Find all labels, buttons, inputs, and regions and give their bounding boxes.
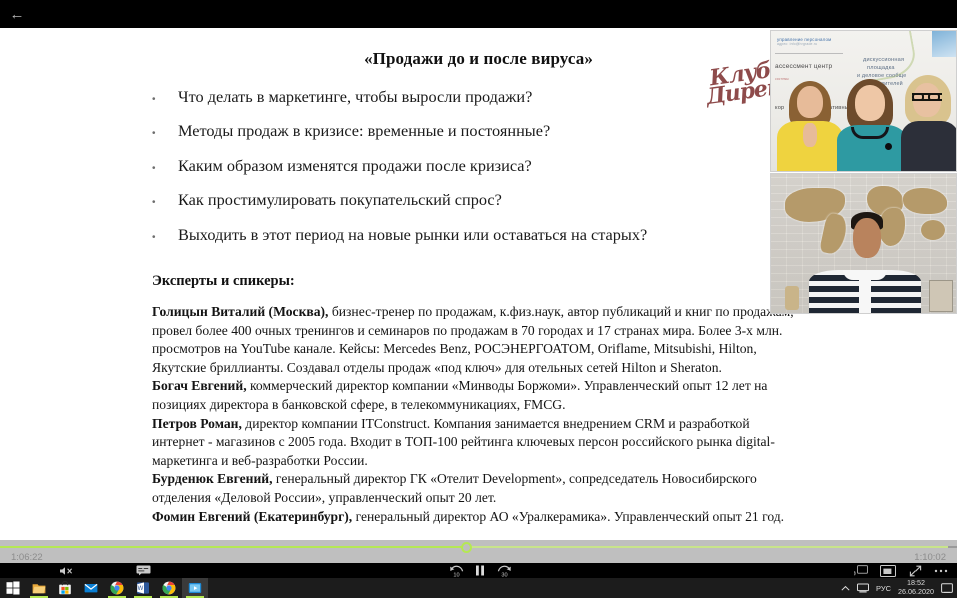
list-item: • Как простимулировать покупательский сп…: [152, 191, 752, 209]
file-explorer-button[interactable]: [26, 578, 52, 598]
microsoft-store-button[interactable]: [52, 578, 78, 598]
chrome-second-button[interactable]: [156, 578, 182, 598]
speaker-placket: [859, 276, 871, 314]
seek-buffer: [467, 546, 948, 548]
notification-icon[interactable]: [941, 583, 953, 594]
windows-logo-icon: [6, 581, 20, 595]
svg-text:W: W: [138, 586, 144, 592]
desk-object: [785, 286, 799, 310]
banner-text: ассессмент центр: [775, 63, 832, 70]
cast-icon[interactable]: [852, 563, 870, 578]
start-button[interactable]: [0, 578, 26, 598]
clock-time: 18:52: [907, 578, 925, 587]
chrome-button[interactable]: [104, 578, 130, 598]
chrome-icon: [162, 581, 176, 595]
player-window: ← «Продажи до и после вируса» • Что дела…: [0, 0, 957, 598]
bullet-dot-icon: •: [152, 193, 178, 208]
system-tray: РУС 18:52 26.06.2020: [841, 578, 957, 598]
expert-name: Бурденюк Евгений,: [152, 471, 273, 486]
bullet-dot-icon: •: [152, 228, 178, 243]
expert-entry: Петров Роман, директор компании ITConstr…: [152, 415, 802, 471]
bullet-text: Выходить в этот период на новые рынки ил…: [178, 226, 647, 244]
expert-entry: Богач Евгений, коммерческий директор ком…: [152, 377, 802, 414]
video-slide-area[interactable]: «Продажи до и после вируса» • Что делать…: [0, 28, 957, 540]
webcam-tile-participants[interactable]: управление персоналом адрес: info@hrgrad…: [770, 30, 957, 172]
windows-taskbar: W: [0, 578, 957, 598]
experts-heading: Эксперты и спикеры:: [152, 273, 802, 290]
language-indicator[interactable]: РУС: [876, 584, 891, 593]
slide-bullet-list: • Что делать в маркетинге, чтобы выросли…: [152, 88, 752, 260]
bullet-dot-icon: •: [152, 90, 178, 105]
rewind-10-icon[interactable]: 10: [446, 563, 466, 578]
folder-icon: [32, 581, 46, 595]
clock-date: 26.06.2020: [898, 587, 934, 596]
movies-tv-icon: [188, 581, 202, 595]
more-options-icon[interactable]: [932, 563, 950, 578]
banner-text: адрес: info@hrgrade.ru: [777, 42, 817, 46]
expert-entry: Фомин Евгений (Екатеринбург), генеральны…: [152, 508, 802, 527]
expert-entry: Бурденюк Евгений, генеральный директор Г…: [152, 470, 802, 507]
media-button-row: 10 30: [0, 563, 957, 578]
expert-name: Богач Евгений,: [152, 378, 247, 393]
speaker-head: [853, 218, 881, 258]
mini-player-icon[interactable]: [878, 563, 898, 578]
envelope-icon: [84, 581, 98, 595]
show-hidden-icons-button[interactable]: [841, 585, 850, 592]
expert-name: Петров Роман,: [152, 416, 242, 431]
banner-text: кор: [775, 105, 784, 111]
volume-mute-icon[interactable]: [55, 563, 77, 578]
list-item: • Выходить в этот период на новые рынки …: [152, 226, 752, 244]
expert-entry: Голицын Виталий (Москва), бизнес-тренер …: [152, 303, 802, 377]
expert-bio: генеральный директор АО «Уралкерамика». …: [352, 509, 784, 524]
banner-text: площадка: [867, 65, 895, 71]
clock[interactable]: 18:52 26.06.2020: [898, 579, 934, 597]
banner-text: и деловое сообще: [857, 73, 906, 79]
svg-text:30: 30: [501, 572, 507, 577]
seek-bar[interactable]: [0, 542, 957, 552]
list-item: • Что делать в маркетинге, чтобы выросли…: [152, 88, 752, 106]
list-item: • Методы продаж в кризисе: временные и п…: [152, 122, 752, 140]
banner-text: дискуссионная: [863, 57, 904, 63]
bullet-text: Что делать в маркетинге, чтобы выросли п…: [178, 88, 532, 106]
mail-button[interactable]: [78, 578, 104, 598]
world-map-decor: [921, 220, 945, 240]
banner-text: системы: [775, 77, 789, 81]
current-time-label: 1:06:22: [11, 552, 43, 563]
total-time-label: 1:10:02: [914, 552, 946, 563]
bullet-text: Каким образом изменятся продажи после кр…: [178, 157, 532, 175]
bullet-text: Как простимулировать покупательский спро…: [178, 191, 502, 209]
forward-30-icon[interactable]: 30: [494, 563, 514, 578]
banner-divider: [775, 53, 843, 54]
network-icon[interactable]: [857, 583, 869, 593]
bullet-text: Методы продаж в кризисе: временные и пос…: [178, 122, 550, 140]
expert-name: Фомин Евгений (Екатеринбург),: [152, 509, 352, 524]
svg-text:10: 10: [453, 572, 459, 577]
list-item: • Каким образом изменятся продажи после …: [152, 157, 752, 175]
seek-handle[interactable]: [461, 542, 472, 553]
experts-section: Эксперты и спикеры: Голицын Виталий (Мос…: [152, 273, 802, 526]
window-light: [932, 31, 956, 57]
top-bar: ←: [0, 0, 957, 28]
picture-frame: [929, 280, 953, 312]
store-bag-icon: [58, 581, 72, 595]
chevron-up-icon: [841, 585, 850, 592]
subtitles-icon[interactable]: [132, 563, 154, 578]
back-button[interactable]: ←: [6, 4, 28, 24]
bullet-dot-icon: •: [152, 124, 178, 139]
seek-progress: [0, 546, 467, 548]
chrome-icon: [110, 581, 124, 595]
expert-name: Голицын Виталий (Москва),: [152, 304, 328, 319]
world-map-decor: [903, 188, 947, 214]
fullscreen-icon[interactable]: [906, 563, 924, 578]
webcam-tile-speaker[interactable]: [770, 173, 957, 314]
bullet-dot-icon: •: [152, 159, 178, 174]
pause-icon[interactable]: [472, 563, 488, 578]
office-button[interactable]: W: [130, 578, 156, 598]
movies-tv-button[interactable]: [182, 578, 208, 598]
office-icon: W: [136, 581, 150, 595]
expert-bio: директор компании ITConstruct. Компания …: [152, 416, 775, 468]
